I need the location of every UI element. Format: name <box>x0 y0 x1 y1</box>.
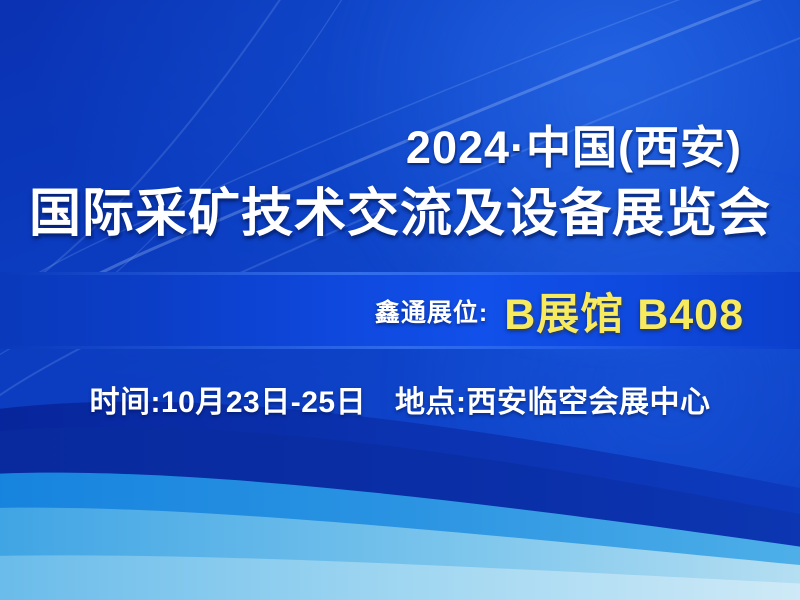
event-title: 国际采矿技术交流及设备展览会 <box>14 183 786 245</box>
exhibition-poster: 2024·中国(西安) 国际采矿技术交流及设备展览会 鑫通展位: B展馆 B40… <box>0 0 800 600</box>
booth-row: 鑫通展位: B展馆 B408 <box>0 278 744 344</box>
event-year-location: 2024·中国(西安) <box>0 122 742 174</box>
event-info-row: 时间:10月23日-25日 地点:西安临空会展中心 <box>0 377 800 421</box>
booth-label: 鑫通展位: <box>375 293 488 329</box>
booth-number: B展馆 B408 <box>504 280 744 342</box>
poster-content: 2024·中国(西安) 国际采矿技术交流及设备展览会 鑫通展位: B展馆 B40… <box>0 0 800 600</box>
event-date: 时间:10月23日-25日 <box>90 377 367 421</box>
event-venue: 地点:西安临空会展中心 <box>395 377 711 421</box>
